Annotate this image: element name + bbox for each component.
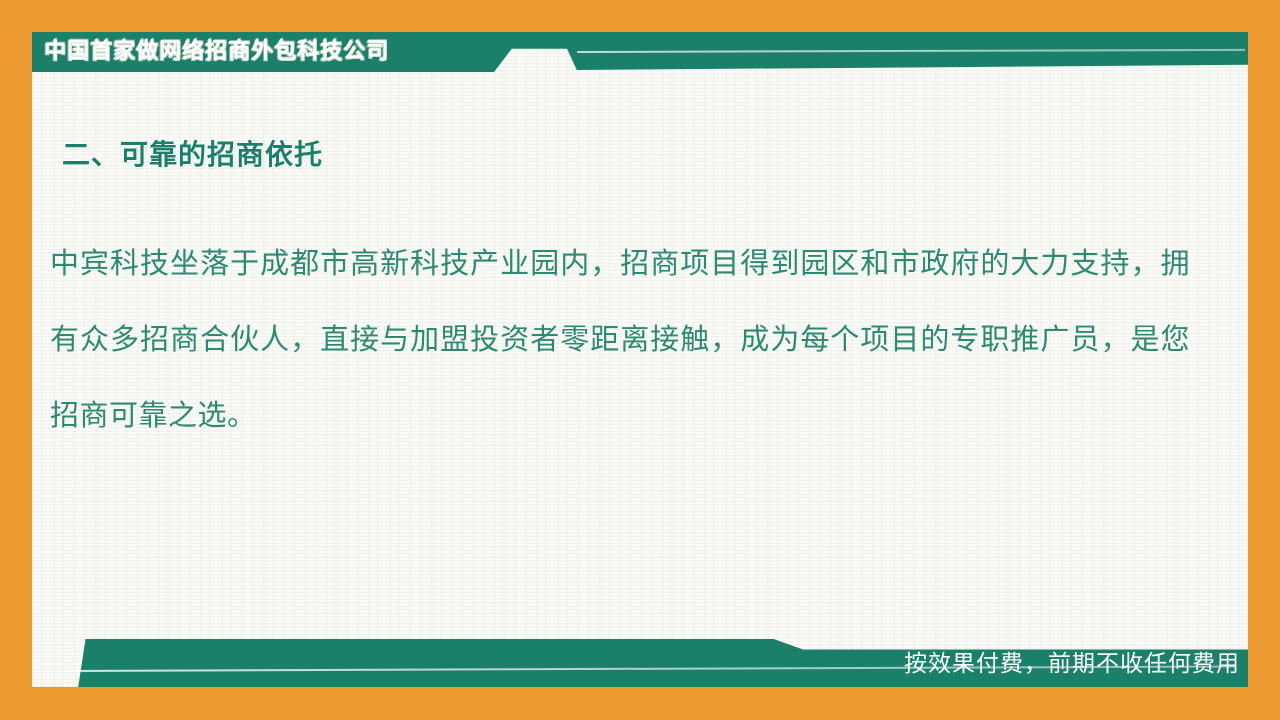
section-heading: 二、可靠的招商依托 (62, 135, 323, 175)
body-paragraph: 中宾科技坐落于成都市高新科技产业园内，招商项目得到园区和市政府的大力支持，拥有众… (50, 226, 1190, 454)
slide-root: 中国首家做网络招商外包科技公司 二、可靠的招商依托 中宾科技坐落于成都市高新科技… (0, 0, 1280, 720)
header-title: 中国首家做网络招商外包科技公司 (44, 36, 389, 66)
footer-tagline: 按效果付费，前期不收任何费用 (904, 646, 1240, 680)
